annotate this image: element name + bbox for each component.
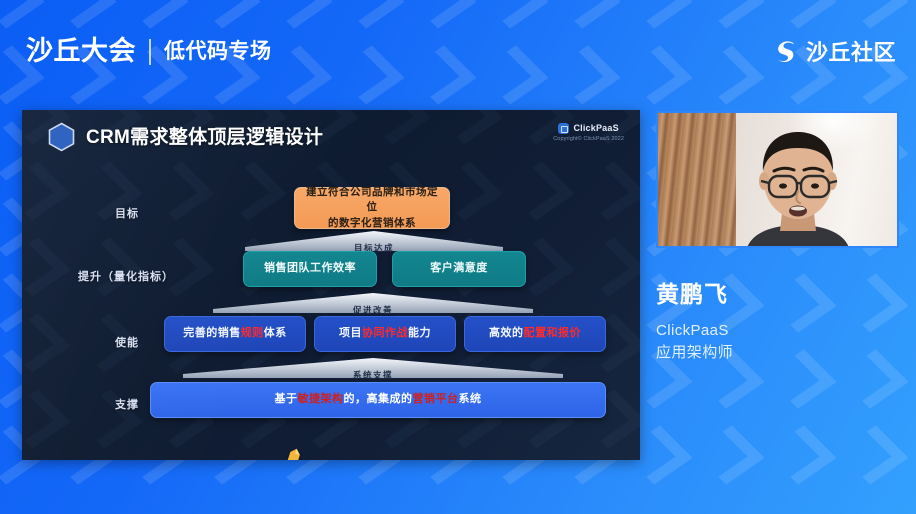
arrow-chevron-watermark-icon bbox=[22, 389, 70, 448]
enable-box-1-text: 完善的销售规则体系 bbox=[183, 326, 287, 342]
event-brand: 沙丘大会 低代码专场 bbox=[26, 38, 272, 65]
goal-box-line2: 的数字化营销体系 bbox=[328, 216, 416, 231]
enable-box-3-text: 高效的配置和报价 bbox=[489, 326, 581, 342]
clickpaas-logo-icon bbox=[558, 123, 569, 134]
connector-promote-improvement: 促进改善 bbox=[212, 292, 534, 314]
enable-box-collaboration[interactable]: 项目协同作战能力 bbox=[314, 316, 456, 352]
arrow-chevron-watermark-icon bbox=[22, 161, 70, 220]
arrow-chevron-watermark-icon bbox=[576, 161, 640, 220]
event-header: 沙丘大会 低代码专场 沙丘社区 bbox=[0, 0, 916, 97]
speaker-name: 黄鹏飞 bbox=[656, 282, 906, 307]
webcam-blinds bbox=[658, 113, 736, 248]
presentation-stage: 沙丘大会 低代码专场 沙丘社区 CRM需求整体顶层逻辑设计 bbox=[0, 0, 916, 514]
arrow-chevron-watermark-icon bbox=[504, 161, 575, 220]
enable-box-sales-rules[interactable]: 完善的销售规则体系 bbox=[164, 316, 306, 352]
arrow-chevron-watermark-icon bbox=[360, 110, 431, 145]
row-label-goal: 目标 bbox=[82, 205, 172, 221]
support-platform-bar[interactable]: 基于敏捷架构的，高集成的营销平台系统 bbox=[150, 382, 606, 418]
enable-box-2-text: 项目协同作战能力 bbox=[339, 326, 431, 342]
brand-divider bbox=[149, 39, 151, 65]
metric-box-sales-efficiency[interactable]: 销售团队工作效率 bbox=[243, 251, 377, 287]
row-label-metrics: 提升（量化指标） bbox=[56, 268, 196, 284]
vendor-copyright: Copyright© ClickPaaS 2022 bbox=[553, 136, 624, 143]
row-label-enable: 使能 bbox=[82, 334, 172, 350]
arrow-chevron-watermark-icon bbox=[838, 425, 909, 484]
arrow-chevron-watermark-icon bbox=[766, 425, 837, 484]
arrow-chevron-watermark-icon bbox=[576, 237, 640, 296]
hexagon-icon bbox=[48, 122, 75, 152]
community-label: 沙丘社区 bbox=[806, 42, 896, 64]
support-bar-text: 基于敏捷架构的，高集成的营销平台系统 bbox=[275, 392, 482, 408]
arrow-chevron-watermark-icon bbox=[216, 161, 287, 220]
speaker-webcam-feed[interactable] bbox=[656, 111, 899, 248]
enable-box-config-quote[interactable]: 高效的配置和报价 bbox=[464, 316, 606, 352]
connector-system-support: 系统支撑 bbox=[182, 357, 564, 379]
webcam-person bbox=[728, 121, 868, 248]
event-subtitle: 低代码专场 bbox=[164, 41, 272, 62]
speaker-info: 黄鹏飞 ClickPaaS 应用架构师 bbox=[656, 282, 906, 364]
event-title: 沙丘大会 bbox=[26, 38, 136, 65]
arrow-chevron-watermark-icon bbox=[72, 237, 143, 296]
goal-box-line1: 建立符合公司品牌和市场定位 bbox=[303, 185, 441, 215]
speaker-company: ClickPaaS bbox=[656, 320, 906, 342]
connector-label-3: 系统支撑 bbox=[182, 369, 564, 381]
connector-label-2: 促进改善 bbox=[212, 304, 534, 316]
speaker-role: 应用架构师 bbox=[656, 342, 906, 364]
metric-box-customer-satisfaction[interactable]: 客户满意度 bbox=[392, 251, 526, 287]
arrow-chevron-watermark-icon bbox=[22, 237, 70, 296]
pencil-cursor-icon bbox=[280, 446, 304, 460]
vendor-name: ClickPaaS bbox=[573, 123, 618, 134]
arrow-chevron-watermark-icon bbox=[694, 425, 765, 484]
slide-header: CRM需求整体顶层逻辑设计 bbox=[48, 122, 323, 152]
arrow-chevron-watermark-icon bbox=[22, 313, 70, 372]
slide-title: CRM需求整体顶层逻辑设计 bbox=[86, 128, 323, 147]
arrow-chevron-watermark-icon bbox=[432, 110, 503, 145]
arrow-chevron-watermark-icon bbox=[144, 237, 215, 296]
connector-goal-achievement: 目标达成 bbox=[244, 230, 504, 252]
goal-box[interactable]: 建立符合公司品牌和市场定位 的数字化营销体系 bbox=[294, 187, 450, 229]
slide-canvas[interactable]: CRM需求整体顶层逻辑设计 ClickPaaS Copyright© Click… bbox=[22, 110, 640, 460]
swoosh-s-logo-icon bbox=[773, 40, 798, 65]
community-brand: 沙丘社区 bbox=[773, 40, 896, 65]
vendor-logo-block: ClickPaaS Copyright© ClickPaaS 2022 bbox=[553, 123, 624, 143]
